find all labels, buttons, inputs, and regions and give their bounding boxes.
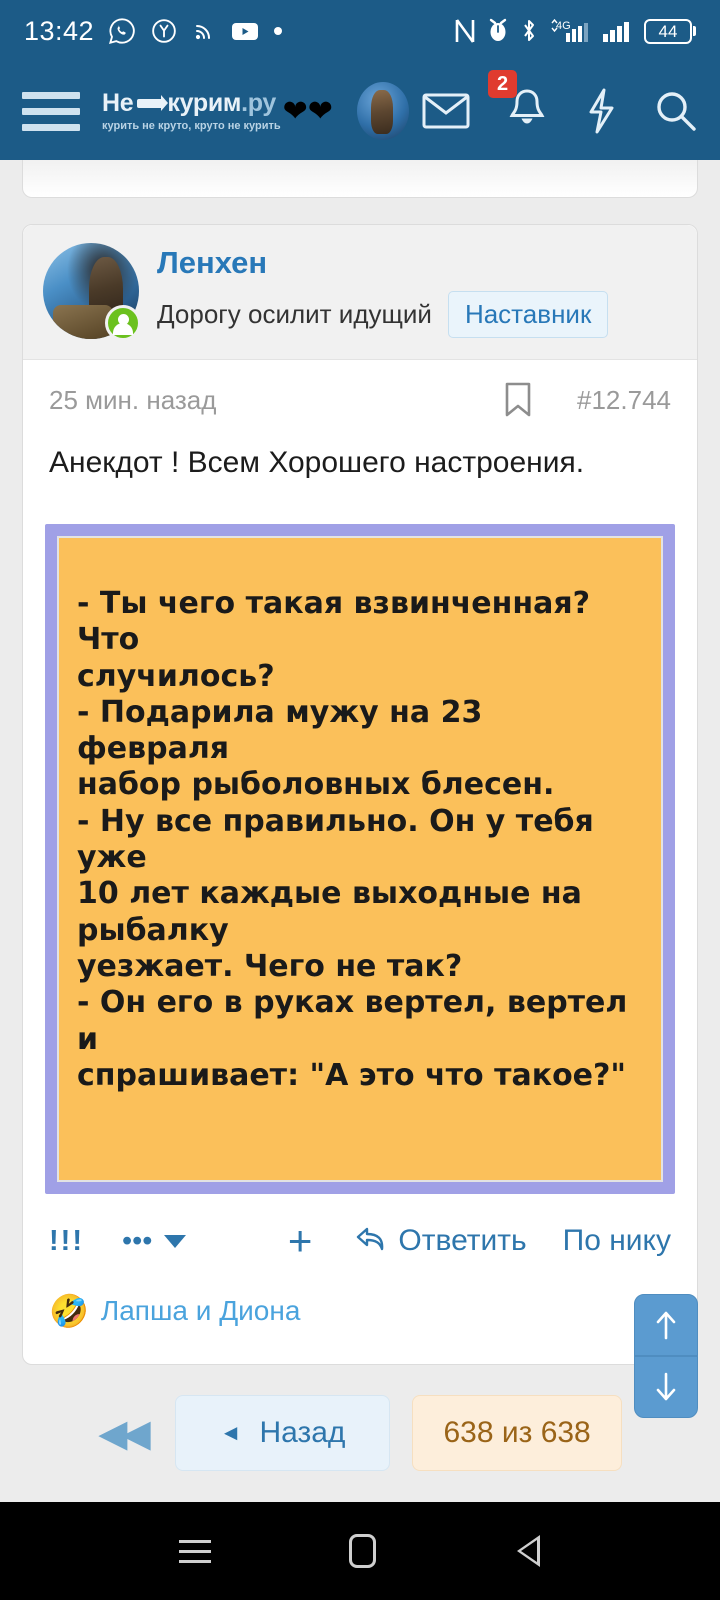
whatsapp-icon bbox=[108, 17, 136, 45]
joke-line: набор рыболовных блесен. bbox=[77, 767, 643, 803]
logo-tld: .ру bbox=[241, 89, 276, 117]
wifi-signal-icon bbox=[601, 17, 635, 45]
battery-nub bbox=[693, 26, 696, 36]
more-options-button[interactable]: ••• bbox=[122, 1225, 186, 1258]
joke-line: 10 лет каждые выходные на рыбалку bbox=[77, 876, 643, 949]
scroll-buttons bbox=[634, 1294, 698, 1418]
scroll-down-icon[interactable] bbox=[634, 1356, 698, 1418]
joke-image-inner: - Ты чего такая взвинченная? Что случило… bbox=[57, 536, 663, 1182]
reaction-user-names[interactable]: Лапша и Диона bbox=[101, 1295, 301, 1327]
joke-line: спрашивает: "А это что такое?" bbox=[77, 1058, 643, 1094]
more-dots-label: ••• bbox=[122, 1225, 152, 1258]
svg-text:4G: 4G bbox=[556, 20, 571, 32]
pagination: ◀◀ ◄ Назад 638 из 638 bbox=[0, 1395, 720, 1471]
hamburger-menu-icon[interactable] bbox=[22, 92, 80, 131]
youtube-icon bbox=[230, 19, 260, 43]
joke-image[interactable]: - Ты чего такая взвинченная? Что случило… bbox=[45, 524, 675, 1194]
joke-line: - Он его в руках вертел, вертел и bbox=[77, 985, 643, 1058]
status-bar: 13:42 bbox=[0, 0, 720, 62]
post-meta-right: #12.744 bbox=[503, 382, 671, 418]
back-icon[interactable] bbox=[515, 1533, 541, 1569]
alarm-icon bbox=[486, 18, 510, 44]
mobile-signal-icon: 4G bbox=[548, 17, 592, 45]
post-card: Ленхен Дорогу осилит идущий Наставник 25… bbox=[22, 224, 698, 1365]
status-time: 13:42 bbox=[24, 16, 94, 47]
scroll-up-icon[interactable] bbox=[634, 1294, 698, 1356]
post-number[interactable]: #12.744 bbox=[577, 385, 671, 416]
report-button[interactable]: !!! bbox=[49, 1225, 84, 1258]
page-content: Ленхен Дорогу осилит идущий Наставник 25… bbox=[0, 160, 720, 1600]
app-header: Некурим.ру курить не круто, круто не кур… bbox=[0, 62, 720, 160]
joke-line: уезжает. Чего не так? bbox=[77, 949, 643, 985]
chevron-down-icon bbox=[164, 1235, 186, 1248]
post-header: Ленхен Дорогу осилит идущий Наставник bbox=[23, 225, 697, 360]
author-username[interactable]: Ленхен bbox=[157, 245, 608, 281]
bluetooth-icon bbox=[519, 18, 539, 44]
previous-post-card-stub bbox=[22, 160, 698, 198]
back-arrow-icon: ◄ bbox=[220, 1420, 242, 1446]
hearts-icon: ❤❤ bbox=[283, 94, 333, 129]
battery-level: 44 bbox=[644, 19, 692, 44]
post-timestamp: 25 мин. назад bbox=[49, 385, 216, 416]
status-bar-left: 13:42 bbox=[24, 16, 282, 47]
lightning-bolt-icon[interactable] bbox=[584, 88, 618, 134]
reply-button[interactable]: Ответить bbox=[354, 1224, 526, 1258]
post-body-text: Анекдот ! Всем Хорошего настроения. bbox=[23, 428, 697, 490]
previous-page-label: Назад bbox=[259, 1416, 345, 1450]
previous-page-button[interactable]: ◄ Назад bbox=[175, 1395, 391, 1471]
page-counter[interactable]: 638 из 638 bbox=[412, 1395, 621, 1471]
add-button[interactable]: + bbox=[288, 1220, 313, 1262]
reply-arrow-icon bbox=[354, 1226, 388, 1256]
logo-tagline: курить не круто, круто не курить bbox=[102, 121, 281, 132]
header-icon-group: 2 bbox=[422, 88, 698, 134]
post-author-info: Ленхен Дорогу осилит идущий Наставник bbox=[157, 245, 608, 338]
post-actions: !!! ••• + Ответить По нику bbox=[23, 1194, 697, 1284]
dot-indicator-icon bbox=[274, 27, 282, 35]
home-icon[interactable] bbox=[349, 1534, 376, 1568]
laugh-emoji-icon: 🤣 bbox=[49, 1292, 89, 1330]
header-user-avatar[interactable] bbox=[357, 82, 409, 140]
status-bar-right: 4G 44 bbox=[453, 17, 696, 45]
post-meta: 25 мин. назад #12.744 bbox=[23, 360, 697, 428]
mail-icon[interactable] bbox=[422, 92, 470, 130]
android-navigation-bar bbox=[0, 1502, 720, 1600]
yandex-icon bbox=[150, 17, 178, 45]
site-logo[interactable]: Некурим.ру курить не круто, круто не кур… bbox=[102, 91, 333, 132]
first-page-icon[interactable]: ◀◀ bbox=[98, 1411, 152, 1456]
avatar[interactable] bbox=[43, 243, 139, 339]
quote-nick-button[interactable]: По нику bbox=[563, 1224, 671, 1258]
joke-line: - Ну все правильно. Он у тебя уже bbox=[77, 804, 643, 877]
online-status-icon bbox=[105, 305, 141, 341]
reply-label: Ответить bbox=[398, 1224, 526, 1258]
status-badge[interactable]: Наставник bbox=[448, 291, 608, 338]
joke-line: - Подарила мужу на 23 февраля bbox=[77, 695, 643, 768]
bookmark-icon[interactable] bbox=[503, 382, 533, 418]
bell-icon[interactable]: 2 bbox=[506, 88, 548, 134]
author-motto: Дорогу осилит идущий bbox=[157, 299, 432, 330]
joke-line: случилось? bbox=[77, 659, 643, 695]
rss-icon bbox=[192, 18, 216, 44]
battery-icon: 44 bbox=[644, 19, 696, 44]
logo-text-block: Некурим.ру курить не круто, круто не кур… bbox=[102, 91, 281, 132]
phone-screen: 13:42 bbox=[0, 0, 720, 1600]
search-icon[interactable] bbox=[654, 89, 698, 133]
logo-prefix: Не bbox=[102, 89, 133, 117]
cigarette-icon bbox=[137, 99, 163, 108]
author-meta-line: Дорогу осилит идущий Наставник bbox=[157, 291, 608, 338]
logo-main-word: курим bbox=[167, 89, 241, 117]
recents-icon[interactable] bbox=[179, 1540, 211, 1563]
reaction-row[interactable]: 🤣 Лапша и Диона bbox=[23, 1284, 697, 1364]
nfc-icon bbox=[453, 18, 477, 44]
joke-line: - Ты чего такая взвинченная? Что bbox=[77, 586, 643, 659]
logo-title: Некурим.ру bbox=[102, 91, 276, 116]
notification-badge: 2 bbox=[488, 70, 517, 98]
